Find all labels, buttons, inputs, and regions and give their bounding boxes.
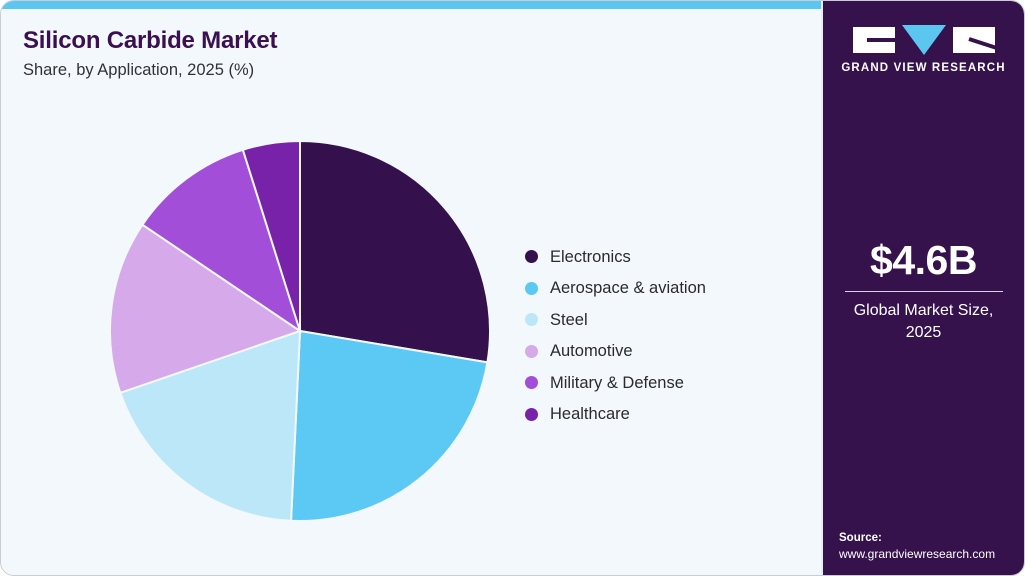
legend-swatch-icon xyxy=(525,345,538,358)
stat-divider xyxy=(845,291,1003,292)
legend-swatch-icon xyxy=(525,250,538,263)
legend-swatch-icon xyxy=(525,282,538,295)
logo-marks xyxy=(823,27,1024,53)
legend-item[interactable]: Military & Defense xyxy=(525,367,805,399)
legend-item-label: Healthcare xyxy=(550,404,630,424)
legend-swatch-icon xyxy=(525,408,538,421)
top-accent-bar xyxy=(1,1,824,9)
brand-logo: GRAND VIEW RESEARCH xyxy=(823,27,1024,74)
infographic-card: Silicon Carbide Market Share, by Applica… xyxy=(0,0,1025,576)
legend-item[interactable]: Electronics xyxy=(525,241,805,273)
logo-letter-r-icon xyxy=(953,27,995,53)
page-subtitle: Share, by Application, 2025 (%) xyxy=(23,60,277,80)
source-label: Source: xyxy=(839,530,1016,546)
logo-triangle-v-icon xyxy=(902,25,946,55)
legend-item-label: Aerospace & aviation xyxy=(550,278,706,298)
legend-item-label: Military & Defense xyxy=(550,373,684,393)
chart-legend: ElectronicsAerospace & aviationSteelAuto… xyxy=(525,241,805,430)
market-size-value: $4.6B xyxy=(823,237,1024,283)
market-size-caption: Global Market Size, 2025 xyxy=(823,300,1024,344)
logo-letter-g-icon xyxy=(853,27,895,53)
brand-side-panel: GRAND VIEW RESEARCH $4.6B Global Market … xyxy=(821,1,1024,576)
legend-swatch-icon xyxy=(525,376,538,389)
market-size-stat: $4.6B Global Market Size, 2025 xyxy=(823,237,1024,344)
legend-item[interactable]: Steel xyxy=(525,304,805,336)
legend-swatch-icon xyxy=(525,313,538,326)
pie-chart-svg xyxy=(109,131,491,531)
title-block: Silicon Carbide Market Share, by Applica… xyxy=(23,26,277,80)
source-url[interactable]: www.grandviewresearch.com xyxy=(839,546,1016,563)
chart-region: Silicon Carbide Market Share, by Applica… xyxy=(1,9,823,576)
pie-slice[interactable] xyxy=(300,141,490,362)
legend-item[interactable]: Automotive xyxy=(525,336,805,368)
legend-item[interactable]: Aerospace & aviation xyxy=(525,273,805,305)
legend-item-label: Automotive xyxy=(550,341,633,361)
pie-chart xyxy=(109,131,491,531)
page-title: Silicon Carbide Market xyxy=(23,26,277,56)
pie-slice[interactable] xyxy=(291,331,487,521)
logo-wordmark: GRAND VIEW RESEARCH xyxy=(823,62,1024,74)
pie-slice-group xyxy=(110,141,490,521)
source-block: Source: www.grandviewresearch.com xyxy=(839,530,1016,563)
legend-item-label: Steel xyxy=(550,310,588,330)
legend-item-label: Electronics xyxy=(550,247,631,267)
legend-item[interactable]: Healthcare xyxy=(525,399,805,431)
